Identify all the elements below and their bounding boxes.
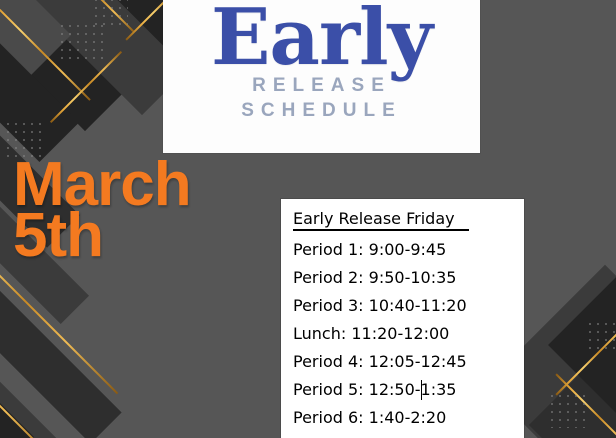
background-dot-texture [58,22,104,62]
text-cursor-caret [421,380,422,400]
background-dot-texture [92,0,128,26]
background-dot-texture [548,392,588,428]
schedule-row: Period 4: 12:05-12:45 [293,348,524,376]
schedule-row: Period 1: 9:00-9:45 [293,236,524,264]
schedule-card[interactable]: Early Release Friday Period 1: 9:00-9:45… [281,199,524,438]
event-date: March 5th [13,160,191,262]
schedule-row-text: Period 5: 12:50-1:35 [293,380,456,399]
schedule-row: Lunch: 11:20-12:00 [293,320,524,348]
background-dot-texture [586,320,616,350]
logo-card: Early RELEASE SCHEDULE [163,0,480,153]
schedule-row: Period 3: 10:40-11:20 [293,292,524,320]
schedule-title: Early Release Friday [293,209,469,231]
background-band-shape [557,0,616,23]
background-band-shape [528,0,616,92]
early-release-schedule-poster: Early RELEASE SCHEDULE March 5th Early R… [0,0,616,438]
logo-wordmark: Early [211,2,432,74]
gold-accent-line [503,0,616,38]
schedule-row: Period 6: 1:40-2:20 [293,404,524,432]
schedule-row: Period 2: 9:50-10:35 [293,264,524,292]
logo-subtitle-release: RELEASE [252,74,391,98]
background-band-shape [487,0,616,66]
logo-subtitle-schedule: SCHEDULE [241,99,402,123]
schedule-row-period-5: Period 5: 12:50-1:35 [293,376,524,404]
